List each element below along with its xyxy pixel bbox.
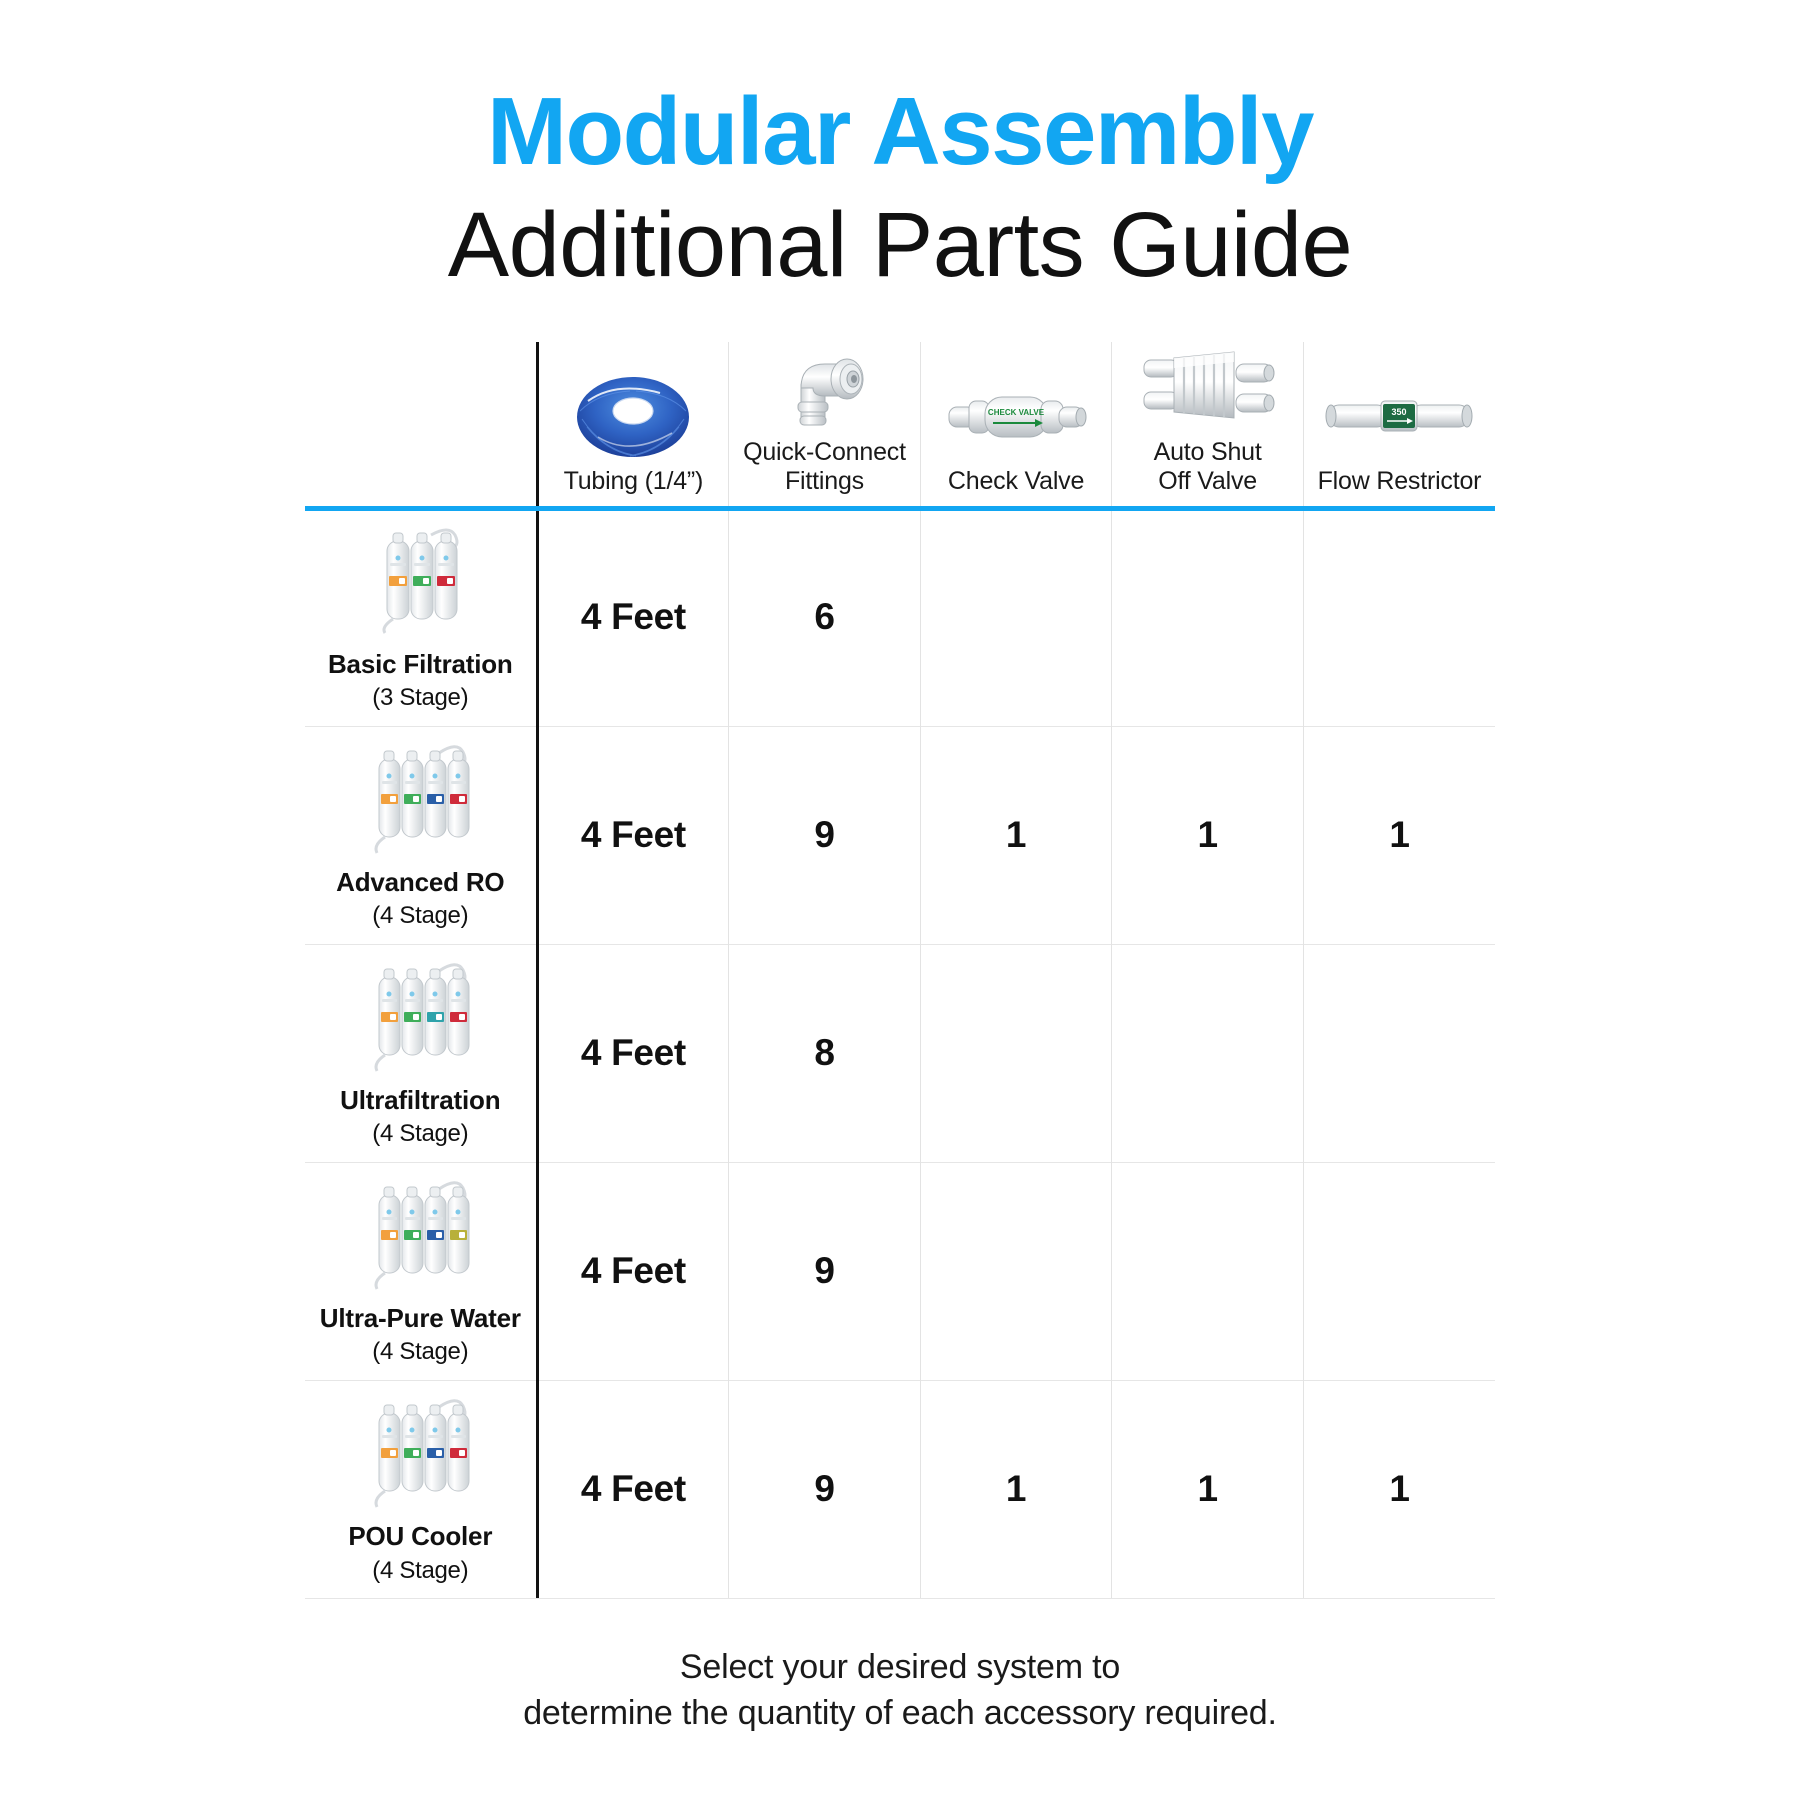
table-body: Basic Filtration (3 Stage) 4 Feet 6 bbox=[305, 508, 1495, 1598]
cell-flow-restrictor[interactable] bbox=[1303, 944, 1495, 1162]
cell-fittings[interactable]: 9 bbox=[729, 1162, 921, 1380]
svg-text:CHECK VALVE: CHECK VALVE bbox=[988, 408, 1045, 417]
table-header: Tubing (1/4”) bbox=[305, 342, 1495, 508]
cell-tubing[interactable]: 4 Feet bbox=[537, 1162, 729, 1380]
column-header-auto-shut-off-valve: Auto Shut Off Valve bbox=[1112, 342, 1304, 508]
header-accent-divider bbox=[305, 506, 1495, 511]
table-row[interactable]: POU Cooler (4 Stage) 4 Feet 9 1 1 1 bbox=[305, 1380, 1495, 1598]
cell-check-valve[interactable] bbox=[920, 1162, 1112, 1380]
column-header-label: Tubing (1/4”) bbox=[539, 467, 729, 496]
column-header-label-line1: Auto Shut bbox=[1154, 438, 1262, 466]
footer-instructions: Select your desired system to determine … bbox=[0, 1645, 1800, 1737]
parts-table: Tubing (1/4”) bbox=[305, 342, 1495, 1598]
system-stage: (4 Stage) bbox=[372, 1120, 468, 1149]
system-stage: (3 Stage) bbox=[372, 684, 468, 713]
filter-cartridges-icon bbox=[345, 519, 495, 637]
cell-auto-shut[interactable] bbox=[1112, 508, 1304, 726]
filter-cartridges-icon bbox=[345, 1391, 495, 1509]
system-cell-basic-filtration[interactable]: Basic Filtration (3 Stage) bbox=[305, 508, 537, 726]
blue-tubing-coil-icon bbox=[539, 371, 729, 459]
cell-flow-restrictor[interactable]: 1 bbox=[1303, 726, 1495, 944]
system-cell-ultra-pure-water[interactable]: Ultra-Pure Water (4 Stage) bbox=[305, 1162, 537, 1380]
quick-connect-elbow-fitting-icon bbox=[729, 342, 920, 430]
system-stage: (4 Stage) bbox=[372, 1338, 468, 1367]
system-cell-pou-cooler[interactable]: POU Cooler (4 Stage) bbox=[305, 1380, 537, 1598]
footer-line-2: determine the quantity of each accessory… bbox=[0, 1691, 1800, 1737]
cell-check-valve[interactable]: 1 bbox=[920, 726, 1112, 944]
system-stage: (4 Stage) bbox=[372, 1557, 468, 1586]
column-header-fittings: Quick-Connect Fittings bbox=[729, 342, 921, 508]
cell-flow-restrictor[interactable] bbox=[1303, 508, 1495, 726]
system-cell-ultrafiltration[interactable]: Ultrafiltration (4 Stage) bbox=[305, 944, 537, 1162]
column-header-label-line2: Off Valve bbox=[1158, 467, 1257, 495]
column-header-tubing: Tubing (1/4”) bbox=[537, 342, 729, 508]
filter-cartridges-icon bbox=[345, 955, 495, 1073]
column-header-label-line2: Fittings bbox=[785, 467, 864, 495]
column-header-check-valve: CHECK VALVE Check Valve bbox=[920, 342, 1112, 508]
cell-check-valve[interactable]: 1 bbox=[920, 1380, 1112, 1598]
cell-flow-restrictor[interactable] bbox=[1303, 1162, 1495, 1380]
system-name: Ultra-Pure Water bbox=[320, 1303, 521, 1334]
title-main: Modular Assembly bbox=[0, 78, 1800, 186]
cell-tubing[interactable]: 4 Feet bbox=[537, 944, 729, 1162]
table-bottom-divider bbox=[305, 1598, 1495, 1599]
cell-fittings[interactable]: 9 bbox=[729, 726, 921, 944]
cell-check-valve[interactable] bbox=[920, 944, 1112, 1162]
cell-tubing[interactable]: 4 Feet bbox=[537, 1380, 729, 1598]
system-name: POU Cooler bbox=[348, 1521, 492, 1552]
cell-auto-shut[interactable] bbox=[1112, 1162, 1304, 1380]
flow-restrictor-badge: 350 bbox=[1392, 407, 1407, 417]
cell-auto-shut[interactable]: 1 bbox=[1112, 726, 1304, 944]
table-row[interactable]: Basic Filtration (3 Stage) 4 Feet 6 bbox=[305, 508, 1495, 726]
cell-fittings[interactable]: 8 bbox=[729, 944, 921, 1162]
cell-auto-shut[interactable] bbox=[1112, 944, 1304, 1162]
system-name: Ultrafiltration bbox=[340, 1085, 500, 1116]
table-row[interactable]: Advanced RO (4 Stage) 4 Feet 9 1 1 1 bbox=[305, 726, 1495, 944]
auto-shut-off-valve-icon bbox=[1112, 342, 1303, 430]
column-header-label: Quick-Connect Fittings bbox=[729, 438, 920, 496]
cell-fittings[interactable]: 6 bbox=[729, 508, 921, 726]
system-name: Advanced RO bbox=[336, 867, 504, 898]
cell-fittings[interactable]: 9 bbox=[729, 1380, 921, 1598]
table-row[interactable]: Ultrafiltration (4 Stage) 4 Feet 8 bbox=[305, 944, 1495, 1162]
title-subtitle: Additional Parts Guide bbox=[0, 192, 1800, 299]
check-valve-icon: CHECK VALVE bbox=[921, 371, 1112, 459]
parts-guide-page: Modular Assembly Additional Parts Guide bbox=[0, 0, 1800, 1800]
system-name: Basic Filtration bbox=[328, 649, 513, 680]
column-header-label-line1: Quick-Connect bbox=[743, 438, 906, 466]
column-header-label: Auto Shut Off Valve bbox=[1112, 438, 1303, 496]
filter-cartridges-icon bbox=[345, 1173, 495, 1291]
flow-restrictor-icon: 350 bbox=[1304, 371, 1495, 459]
cell-tubing[interactable]: 4 Feet bbox=[537, 508, 729, 726]
column-header-system bbox=[305, 342, 537, 508]
parts-table-wrap: Tubing (1/4”) bbox=[305, 342, 1495, 1599]
footer-line-1: Select your desired system to bbox=[0, 1645, 1800, 1691]
cell-check-valve[interactable] bbox=[920, 508, 1112, 726]
column-header-label: Flow Restrictor bbox=[1304, 467, 1495, 496]
cell-auto-shut[interactable]: 1 bbox=[1112, 1380, 1304, 1598]
page-title: Modular Assembly Additional Parts Guide bbox=[0, 0, 1800, 298]
column-header-flow-restrictor: 350 Flow Restrictor bbox=[1303, 342, 1495, 508]
system-stage: (4 Stage) bbox=[372, 902, 468, 931]
filter-cartridges-icon bbox=[345, 737, 495, 855]
column-header-label: Check Valve bbox=[921, 467, 1112, 496]
system-cell-advanced-ro[interactable]: Advanced RO (4 Stage) bbox=[305, 726, 537, 944]
cell-tubing[interactable]: 4 Feet bbox=[537, 726, 729, 944]
cell-flow-restrictor[interactable]: 1 bbox=[1303, 1380, 1495, 1598]
table-row[interactable]: Ultra-Pure Water (4 Stage) 4 Feet 9 bbox=[305, 1162, 1495, 1380]
